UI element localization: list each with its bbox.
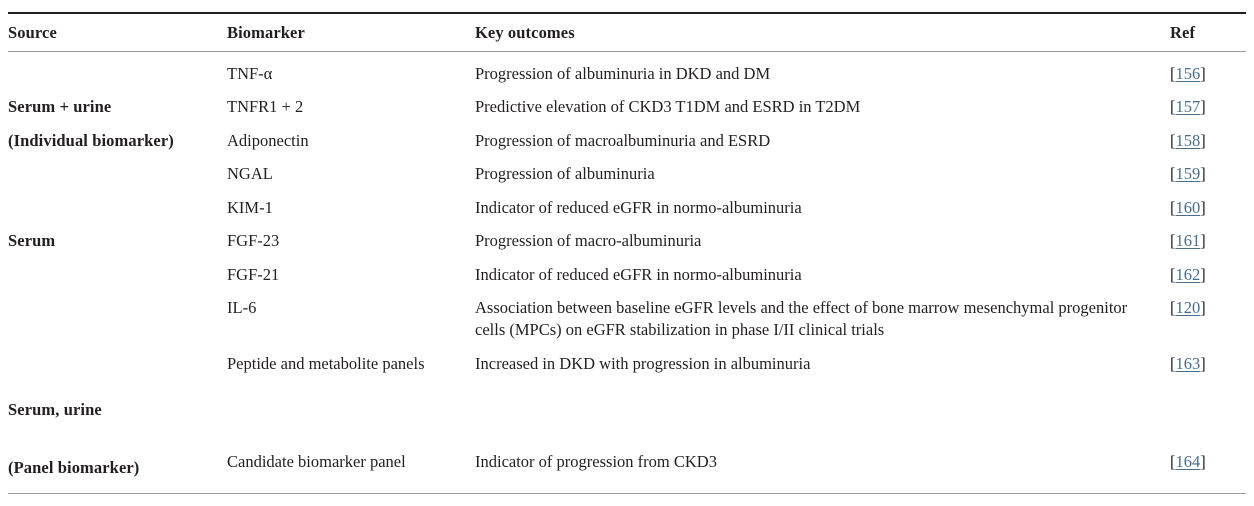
- cell-outcomes: Indicator of progression from CKD3: [475, 451, 1170, 494]
- ref-number: 164: [1176, 452, 1201, 471]
- table-row: Peptide and metabolite panels Increased …: [8, 353, 1246, 399]
- cell-biomarker: IL-6: [227, 297, 475, 353]
- cell-source: [8, 297, 227, 353]
- table-header: Source Biomarker Key outcomes Ref: [8, 13, 1246, 52]
- reference-link[interactable]: [120]: [1170, 298, 1206, 317]
- source-label: (Panel biomarker): [8, 457, 139, 479]
- cell-outcomes: Increased in DKD with progression in alb…: [475, 353, 1170, 399]
- cell-biomarker: Adiponectin: [227, 130, 475, 164]
- cell-ref: [160]: [1170, 197, 1246, 231]
- ref-number: 120: [1176, 298, 1201, 317]
- column-header-outcomes: Key outcomes: [475, 13, 1170, 52]
- reference-link[interactable]: [163]: [1170, 354, 1206, 373]
- table-container: Source Biomarker Key outcomes Ref TNF-α …: [0, 12, 1254, 506]
- ref-bracket-close: ]: [1200, 131, 1206, 150]
- cell-ref: [164]: [1170, 451, 1246, 494]
- cell-biomarker: KIM-1: [227, 197, 475, 231]
- cell-ref: [157]: [1170, 96, 1246, 130]
- table-body: TNF-α Progression of albuminuria in DKD …: [8, 52, 1246, 494]
- ref-number: 159: [1176, 164, 1201, 183]
- ref-number: 163: [1176, 354, 1201, 373]
- ref-number: 157: [1176, 97, 1201, 116]
- ref-bracket-close: ]: [1200, 354, 1206, 373]
- reference-link[interactable]: [158]: [1170, 131, 1206, 150]
- ref-bracket-close: ]: [1200, 298, 1206, 317]
- biomarker-summary-table: Source Biomarker Key outcomes Ref TNF-α …: [8, 12, 1246, 494]
- cell-source: [8, 163, 227, 197]
- cell-source: Serum + urine: [8, 96, 227, 130]
- cell-outcomes: Progression of albuminuria: [475, 163, 1170, 197]
- reference-link[interactable]: [164]: [1170, 452, 1206, 471]
- cell-source: [8, 197, 227, 231]
- ref-number: 160: [1176, 198, 1201, 217]
- column-header-ref: Ref: [1170, 13, 1246, 52]
- ref-bracket-close: ]: [1200, 231, 1206, 250]
- reference-link[interactable]: [161]: [1170, 231, 1206, 250]
- ref-number: 162: [1176, 265, 1201, 284]
- ref-bracket-close: ]: [1200, 452, 1206, 471]
- ref-bracket-close: ]: [1200, 198, 1206, 217]
- cell-ref: [163]: [1170, 353, 1246, 399]
- cell-outcomes: Association between baseline eGFR levels…: [475, 297, 1170, 353]
- cell-outcomes: Predictive elevation of CKD3 T1DM and ES…: [475, 96, 1170, 130]
- reference-link[interactable]: [160]: [1170, 198, 1206, 217]
- cell-ref: [1170, 399, 1246, 451]
- column-header-source: Source: [8, 13, 227, 52]
- cell-outcomes: [475, 399, 1170, 451]
- cell-source: (Panel biomarker): [8, 451, 227, 494]
- ref-bracket-close: ]: [1200, 164, 1206, 183]
- cell-biomarker: FGF-23: [227, 230, 475, 264]
- table-row: (Individual biomarker) Adiponectin Progr…: [8, 130, 1246, 164]
- table-row: KIM-1 Indicator of reduced eGFR in normo…: [8, 197, 1246, 231]
- cell-outcomes: Progression of albuminuria in DKD and DM: [475, 52, 1170, 97]
- ref-bracket-close: ]: [1200, 97, 1206, 116]
- table-row: Serum + urine TNFR1 + 2 Predictive eleva…: [8, 96, 1246, 130]
- ref-bracket-close: ]: [1200, 64, 1206, 83]
- reference-link[interactable]: [159]: [1170, 164, 1206, 183]
- table-row: TNF-α Progression of albuminuria in DKD …: [8, 52, 1246, 97]
- cell-source: Serum, urine: [8, 399, 227, 451]
- column-header-biomarker: Biomarker: [227, 13, 475, 52]
- reference-link[interactable]: [162]: [1170, 265, 1206, 284]
- table-row: NGAL Progression of albuminuria [159]: [8, 163, 1246, 197]
- cell-biomarker: FGF-21: [227, 264, 475, 298]
- cell-ref: [162]: [1170, 264, 1246, 298]
- table-row: Serum, urine: [8, 399, 1246, 451]
- cell-ref: [156]: [1170, 52, 1246, 97]
- cell-source: Serum: [8, 230, 227, 264]
- ref-bracket-close: ]: [1200, 265, 1206, 284]
- cell-biomarker: NGAL: [227, 163, 475, 197]
- cell-source: (Individual biomarker): [8, 130, 227, 164]
- table-row: IL-6 Association between baseline eGFR l…: [8, 297, 1246, 353]
- cell-ref: [158]: [1170, 130, 1246, 164]
- header-row: Source Biomarker Key outcomes Ref: [8, 13, 1246, 52]
- cell-source: [8, 52, 227, 97]
- cell-source: [8, 264, 227, 298]
- cell-outcomes: Progression of macro-albuminuria: [475, 230, 1170, 264]
- cell-biomarker: Peptide and metabolite panels: [227, 353, 475, 399]
- cell-outcomes: Indicator of reduced eGFR in normo-album…: [475, 197, 1170, 231]
- cell-ref: [161]: [1170, 230, 1246, 264]
- ref-number: 161: [1176, 231, 1201, 250]
- table-row: FGF-21 Indicator of reduced eGFR in norm…: [8, 264, 1246, 298]
- cell-outcomes: Progression of macroalbuminuria and ESRD: [475, 130, 1170, 164]
- cell-biomarker: TNF-α: [227, 52, 475, 97]
- reference-link[interactable]: [157]: [1170, 97, 1206, 116]
- reference-link[interactable]: [156]: [1170, 64, 1206, 83]
- cell-biomarker: TNFR1 + 2: [227, 96, 475, 130]
- cell-ref: [120]: [1170, 297, 1246, 353]
- table-row: (Panel biomarker) Candidate biomarker pa…: [8, 451, 1246, 494]
- ref-number: 158: [1176, 131, 1201, 150]
- cell-biomarker: Candidate biomarker panel: [227, 451, 475, 494]
- cell-ref: [159]: [1170, 163, 1246, 197]
- cell-outcomes: Indicator of reduced eGFR in normo-album…: [475, 264, 1170, 298]
- cell-biomarker: [227, 399, 475, 451]
- ref-number: 156: [1176, 64, 1201, 83]
- cell-source: [8, 353, 227, 399]
- table-row: Serum FGF-23 Progression of macro-albumi…: [8, 230, 1246, 264]
